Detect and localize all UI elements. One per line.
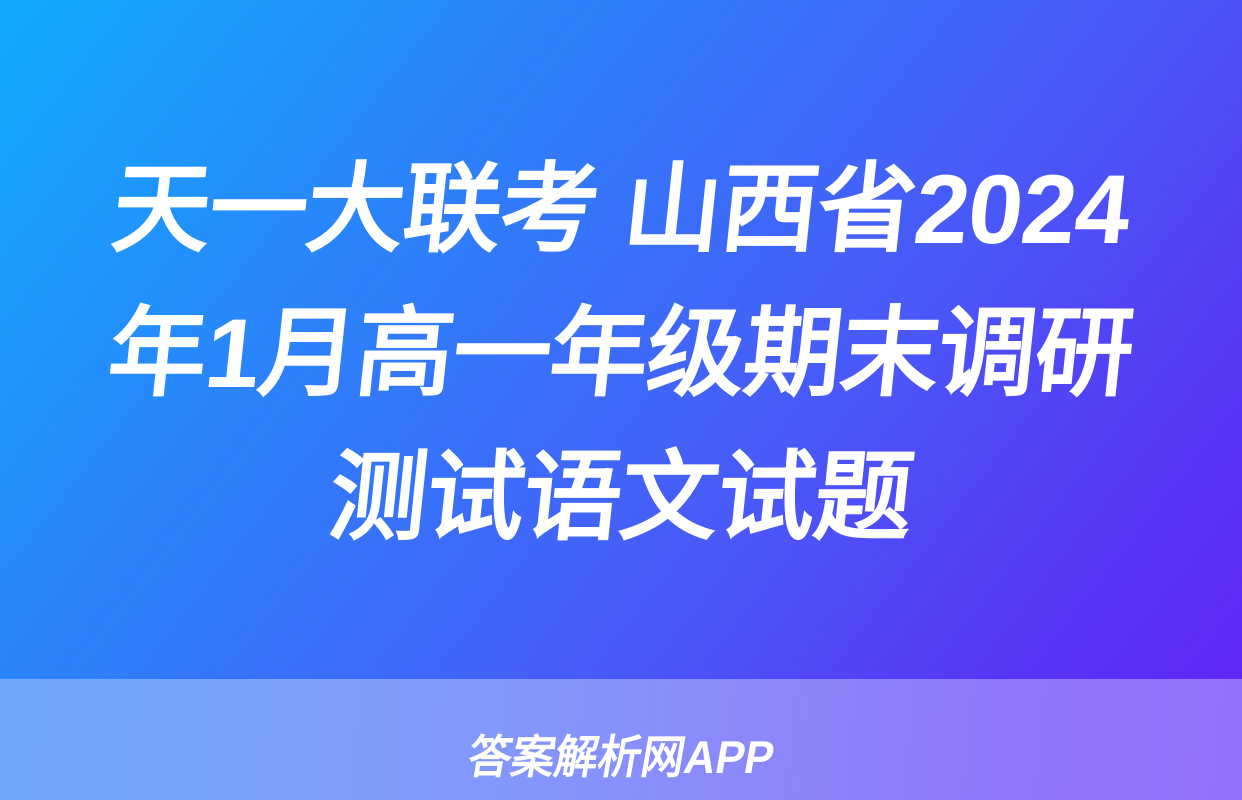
watermark-brand-label: 答案解析网APP bbox=[464, 734, 777, 780]
exam-title-line-2: 年1月高一年级期末调研 bbox=[102, 281, 1141, 425]
exam-title-line-3: 测试语文试题 bbox=[322, 425, 919, 569]
hero-gradient-background: 天一大联考 山西省2024 年1月高一年级期末调研 测试语文试题 bbox=[0, 0, 1242, 679]
watermark-band: 答案解析网APP bbox=[0, 679, 1242, 800]
exam-title-line-1: 天一大联考 山西省2024 bbox=[105, 137, 1136, 281]
exam-title-block: 天一大联考 山西省2024 年1月高一年级期末调研 测试语文试题 bbox=[0, 0, 1242, 679]
exam-cover-card: 天一大联考 山西省2024 年1月高一年级期末调研 测试语文试题 答案解析网AP… bbox=[0, 0, 1242, 800]
